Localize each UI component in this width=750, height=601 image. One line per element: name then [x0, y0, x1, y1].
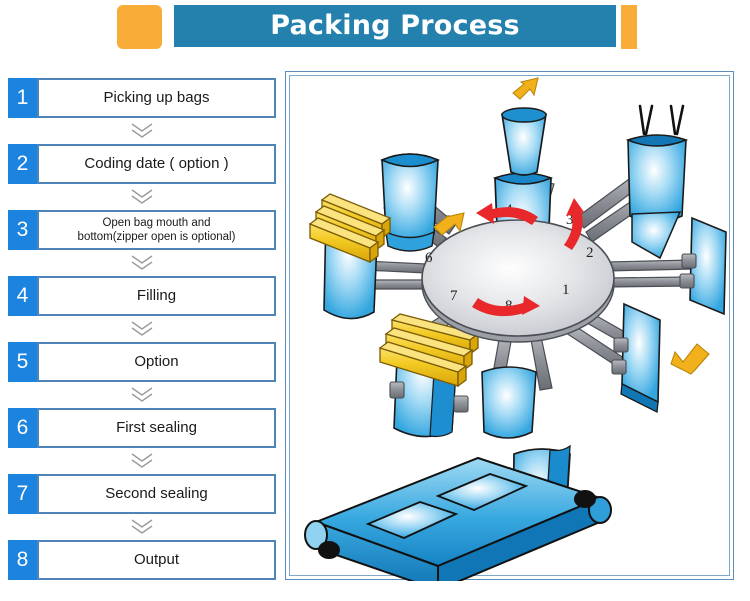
- double-chevron-down-icon: [129, 253, 155, 273]
- station-2-flat-bag: [680, 218, 726, 314]
- step-label: Second sealing: [37, 474, 276, 514]
- process-step-3[interactable]: 3 Open bag mouth andbottom(zipper open i…: [8, 210, 276, 250]
- station-4-feed-arrow-icon: [513, 78, 538, 99]
- process-step-2[interactable]: 2 Coding date ( option ): [8, 144, 276, 184]
- process-step-6[interactable]: 6 First sealing: [8, 408, 276, 448]
- step-number-badge: 5: [8, 342, 37, 382]
- header-orange-square-decoration: [117, 5, 162, 49]
- step-connector-6: [8, 448, 276, 474]
- page-header: Packing Process: [0, 0, 750, 62]
- process-step-4[interactable]: 4 Filling: [8, 276, 276, 316]
- step-label: Picking up bags: [37, 78, 276, 118]
- process-step-7[interactable]: 7 Second sealing: [8, 474, 276, 514]
- step-number-badge: 7: [8, 474, 37, 514]
- infeed-arrow-icon: [671, 344, 709, 374]
- station-number-2: 2: [586, 245, 594, 261]
- step-label: Filling: [37, 276, 276, 316]
- step-connector-3: [8, 250, 276, 276]
- station-8-filled-bag: [482, 367, 536, 438]
- double-chevron-down-icon: [129, 187, 155, 207]
- double-chevron-down-icon: [129, 121, 155, 141]
- step-connector-5: [8, 382, 276, 408]
- page-title: Packing Process: [174, 5, 616, 47]
- illustration-panel: 1 2 3 4 5 6 7 8: [285, 71, 734, 580]
- step-label: First sealing: [37, 408, 276, 448]
- station-3-open-bag: [628, 135, 686, 258]
- double-chevron-down-icon: [129, 385, 155, 405]
- step-label: Open bag mouth andbottom(zipper open is …: [37, 210, 276, 250]
- double-chevron-down-icon: [129, 517, 155, 537]
- station-5-open-bag: [382, 154, 438, 251]
- process-step-5[interactable]: 5 Option: [8, 342, 276, 382]
- step-number-badge: 4: [8, 276, 37, 316]
- process-step-list: 1 Picking up bags 2 Coding date ( option…: [8, 78, 276, 580]
- step-number-badge: 6: [8, 408, 37, 448]
- step-connector-1: [8, 118, 276, 144]
- process-step-8[interactable]: 8 Output: [8, 540, 276, 580]
- station-3-gripper-icon: [640, 106, 683, 134]
- step-connector-2: [8, 184, 276, 210]
- step-label: Output: [37, 540, 276, 580]
- rotary-packing-machine-diagram: 1 2 3 4 5 6 7 8: [286, 72, 735, 581]
- turntable-disc: [422, 220, 614, 342]
- step-number-badge: 8: [8, 540, 37, 580]
- station-6-sealing-bars: [310, 194, 390, 262]
- station-number-6: 6: [425, 250, 433, 266]
- step-number-badge: 3: [8, 210, 37, 250]
- process-step-1[interactable]: 1 Picking up bags: [8, 78, 276, 118]
- step-connector-4: [8, 316, 276, 342]
- step-label: Coding date ( option ): [37, 144, 276, 184]
- step-number-badge: 1: [8, 78, 37, 118]
- step-number-badge: 2: [8, 144, 37, 184]
- double-chevron-down-icon: [129, 451, 155, 471]
- step-label: Option: [37, 342, 276, 382]
- station-number-7: 7: [450, 288, 458, 304]
- header-orange-strip-decoration: [621, 5, 637, 49]
- step-connector-7: [8, 514, 276, 540]
- double-chevron-down-icon: [129, 319, 155, 339]
- station-number-1: 1: [562, 282, 570, 298]
